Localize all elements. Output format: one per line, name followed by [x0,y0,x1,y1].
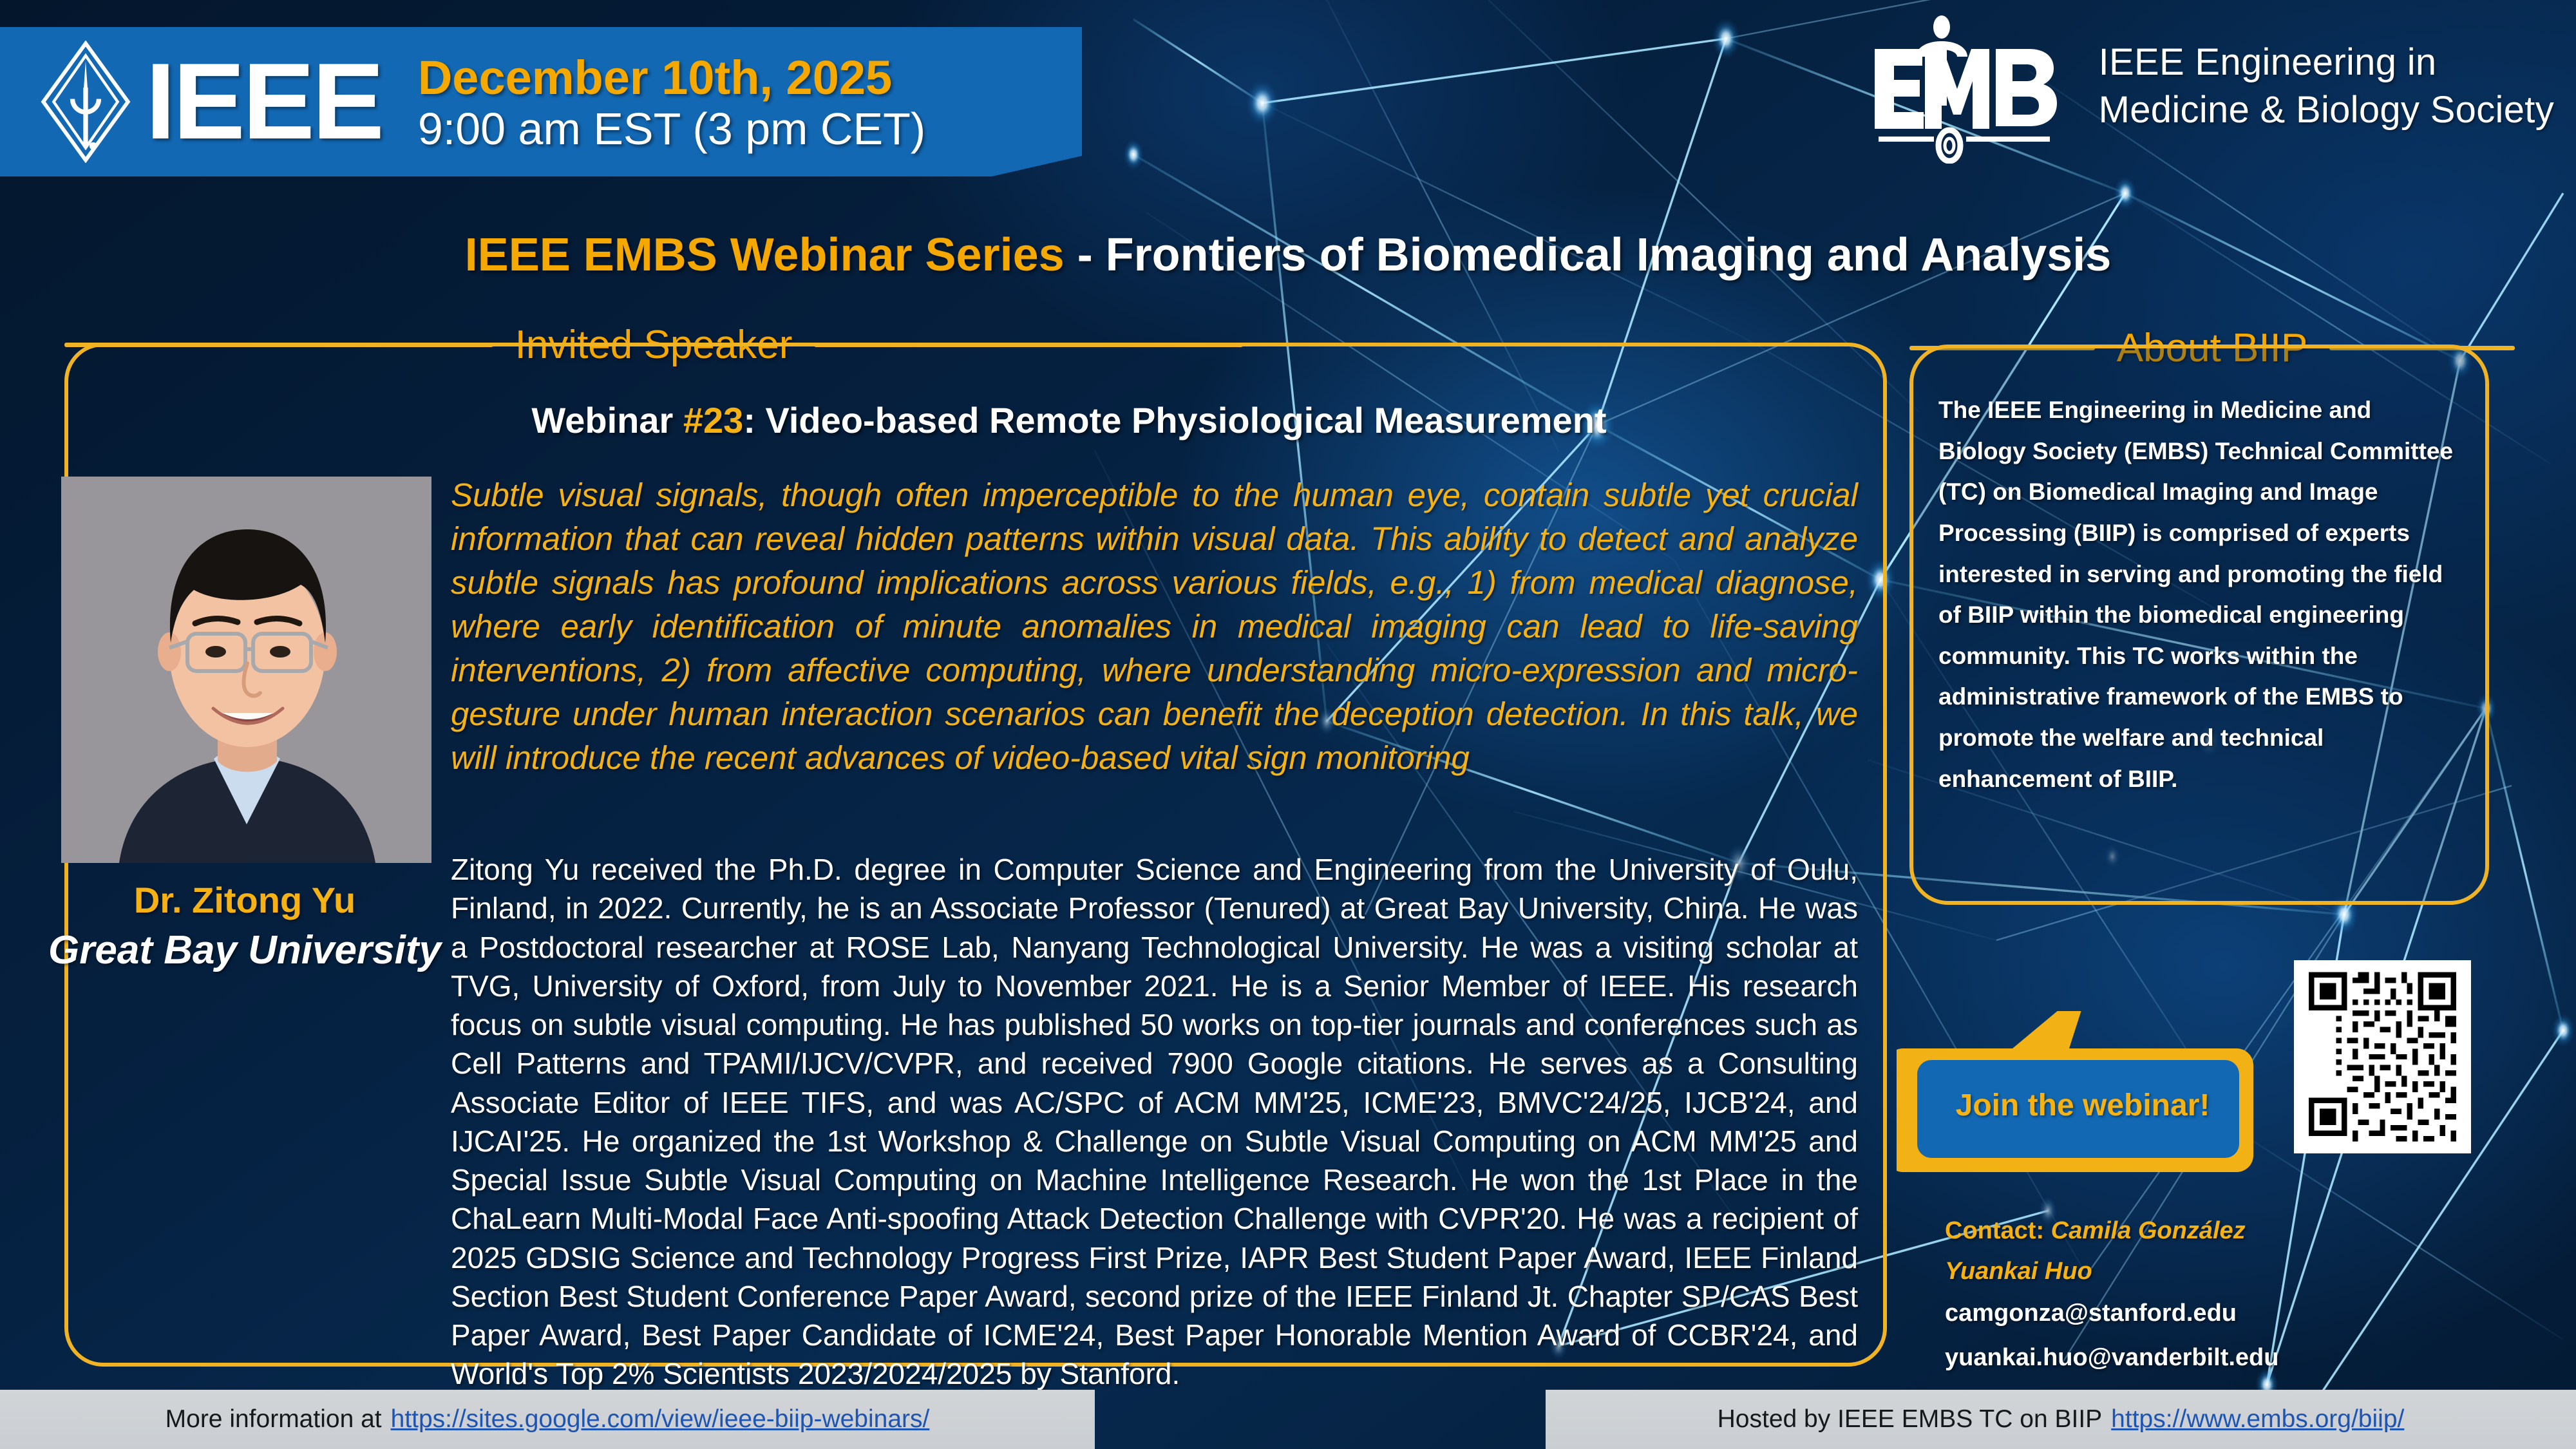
footer-right-text: Hosted by IEEE EMBS TC on BIIP [1718,1405,2103,1434]
ieee-logo: IEEE [37,41,382,163]
webinar-time: 9:00 am EST (3 pm CET) [418,104,925,154]
webinar-date: December 10th, 2025 [418,52,925,104]
contact-email-1[interactable]: camgonza@stanford.edu [1945,1291,2524,1335]
about-biip-body: The IEEE Engineering in Medicine and Bio… [1938,390,2460,799]
emb-society-logo-icon [1870,9,2082,164]
contact-block: Contact: Camila González Yuankai Huo cam… [1945,1211,2524,1379]
contact-line1: Contact: Camila González [1945,1211,2524,1251]
speaker-affiliation: Great Bay University [26,927,464,973]
series-title-rest: - Frontiers of Biomedical Imaging and An… [1065,229,2112,281]
webinar-poster: IEEE December 10th, 2025 9:00 am EST (3 … [0,0,2576,1449]
speaker-name: Dr. Zitong Yu [39,879,451,921]
webinar-title-prefix: Webinar [531,400,683,440]
footer-right: Hosted by IEEE EMBS TC on BIIP https://w… [1546,1390,2576,1449]
webinar-title-text: : Video-based Remote Physiological Measu… [743,400,1606,440]
qr-code-icon [2300,967,2465,1147]
contact-email-2[interactable]: yuankai.huo@vanderbilt.edu [1945,1336,2524,1379]
embs-logo-block: IEEE Engineering in Medicine & Biology S… [1870,9,2554,164]
talk-abstract: Subtle visual signals, though often impe… [451,473,1858,781]
footer-left: More information at https://sites.google… [0,1390,1095,1449]
ieee-diamond-icon [37,41,134,163]
footer-left-text: More information at [166,1405,382,1434]
series-title-highlight: IEEE EMBS Webinar Series [465,229,1065,281]
speaker-portrait-icon [61,477,431,863]
footer-left-link[interactable]: https://sites.google.com/view/ieee-biip-… [391,1405,930,1434]
series-title: IEEE EMBS Webinar Series - Frontiers of … [0,229,2576,281]
webinar-title: Webinar #23: Video-based Remote Physiolo… [361,399,1777,441]
speaker-biography: Zitong Yu received the Ph.D. degree in C… [451,850,1858,1394]
qr-code[interactable] [2294,960,2471,1153]
embs-name-line1: IEEE Engineering in [2099,39,2554,86]
contact-label: Contact: [1945,1217,2051,1244]
webinar-number: #23 [683,400,743,440]
banner-date-block: December 10th, 2025 9:00 am EST (3 pm CE… [418,52,925,154]
join-webinar-button[interactable]: Join the webinar! [1897,1011,2257,1172]
join-webinar-label: Join the webinar! [1897,1011,2257,1172]
ieee-date-banner: IEEE December 10th, 2025 9:00 am EST (3 … [0,27,1082,176]
embs-society-name: IEEE Engineering in Medicine & Biology S… [2099,39,2554,134]
ieee-wordmark: IEEE [146,56,382,147]
speaker-photo [61,477,431,863]
footer-right-link[interactable]: https://www.embs.org/biip/ [2111,1405,2404,1434]
contact-person-2: Yuankai Huo [1945,1251,2524,1292]
embs-name-line2: Medicine & Biology Society [2099,86,2554,134]
contact-person-1: Camila González [2051,1217,2246,1244]
